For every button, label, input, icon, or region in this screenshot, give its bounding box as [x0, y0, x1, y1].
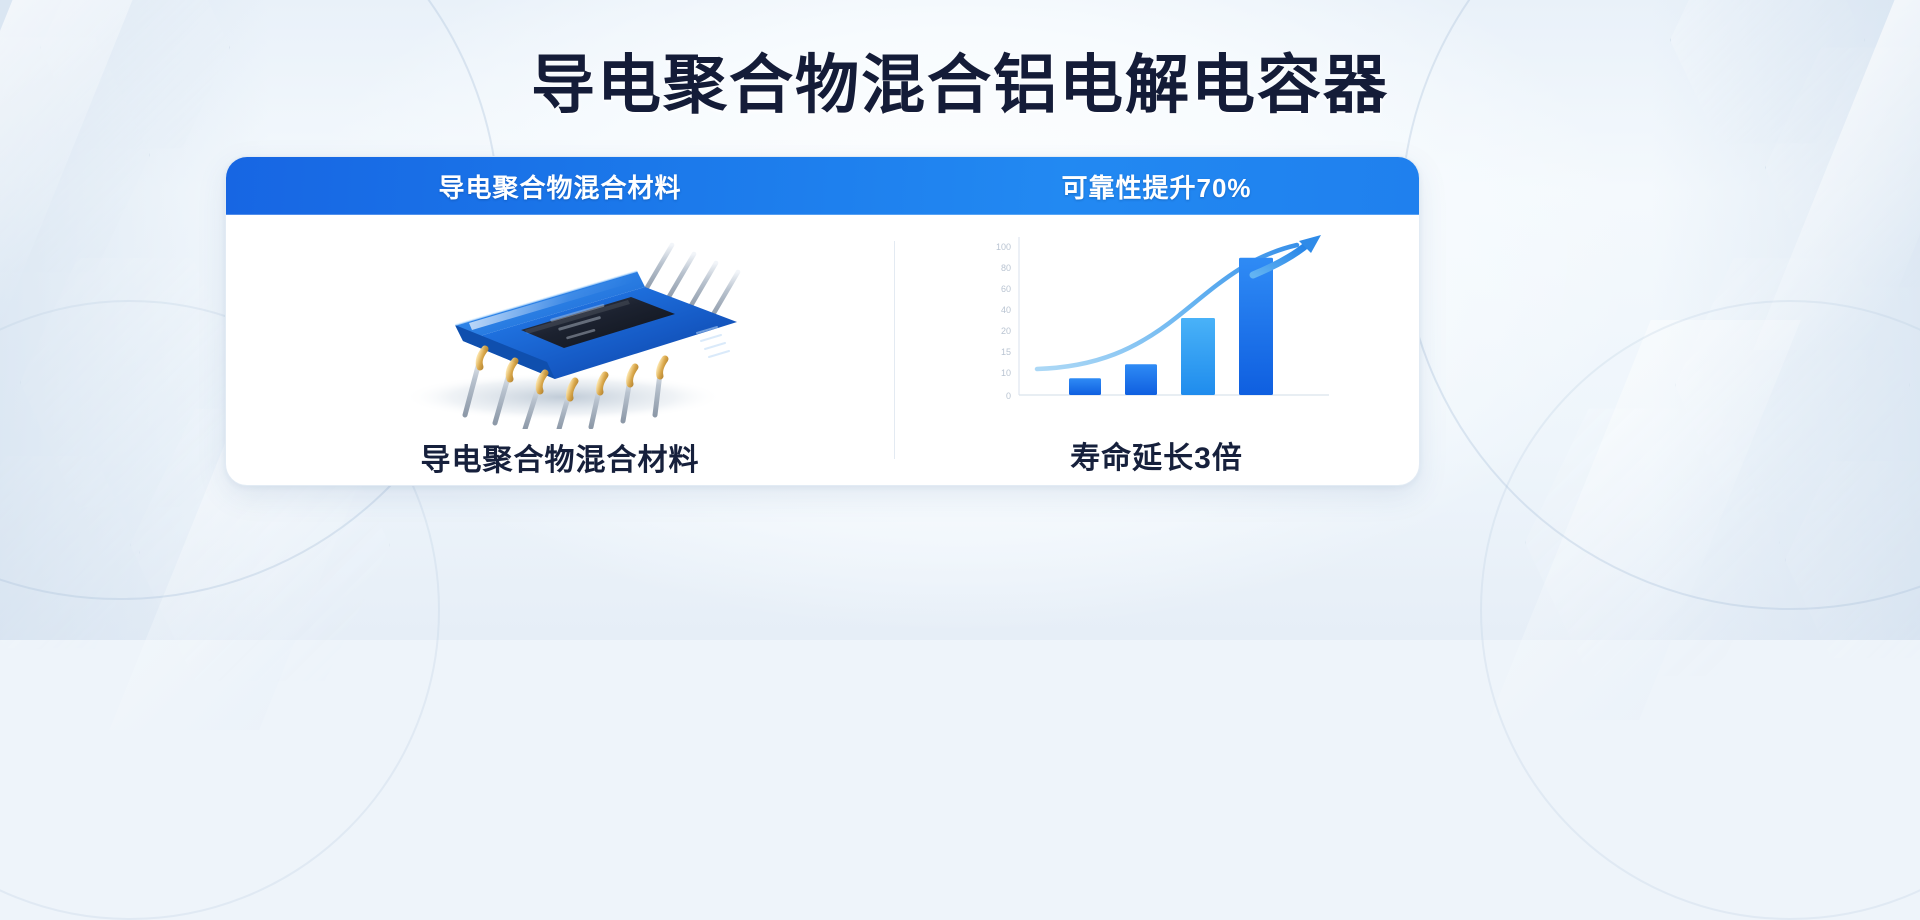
chart-bar: [1069, 378, 1101, 395]
panel-reliability: 100 80 60 40 20 15 10 0: [894, 215, 1419, 485]
capacitor-end-ribs: [697, 327, 729, 357]
svg-text:15: 15: [1001, 347, 1011, 357]
svg-text:10: 10: [1001, 368, 1011, 378]
chart-bars: [1069, 258, 1273, 395]
card-body: 导电聚合物混合材料: [226, 215, 1419, 485]
header-label-reliability: 可靠性提升70%: [894, 157, 1419, 215]
svg-text:20: 20: [1001, 326, 1011, 336]
feature-card: 导电聚合物混合材料 可靠性提升70%: [225, 156, 1420, 486]
chart-bar: [1239, 258, 1273, 395]
card-header-bar: 导电聚合物混合材料 可靠性提升70%: [226, 157, 1419, 215]
svg-text:40: 40: [1001, 305, 1011, 315]
caption-lifespan: 寿命延长3倍: [1070, 433, 1243, 477]
svg-text:60: 60: [1001, 284, 1011, 294]
page-title: 导电聚合物混合铝电解电容器: [0, 34, 1920, 126]
header-label-material: 导电聚合物混合材料: [226, 157, 894, 215]
panel-material: 导电聚合物混合材料: [226, 215, 894, 485]
chart-y-axis-labels: 100 80 60 40 20 15 10 0: [996, 242, 1011, 401]
panel-divider: [894, 241, 895, 459]
chart-bar: [1181, 318, 1215, 395]
chart-bar: [1125, 364, 1157, 395]
caption-material: 导电聚合物混合材料: [421, 435, 700, 479]
svg-text:100: 100: [996, 242, 1011, 252]
capacitor-image: [345, 229, 775, 429]
growth-chart: 100 80 60 40 20 15 10 0: [977, 229, 1337, 421]
svg-text:0: 0: [1006, 391, 1011, 401]
svg-text:80: 80: [1001, 263, 1011, 273]
